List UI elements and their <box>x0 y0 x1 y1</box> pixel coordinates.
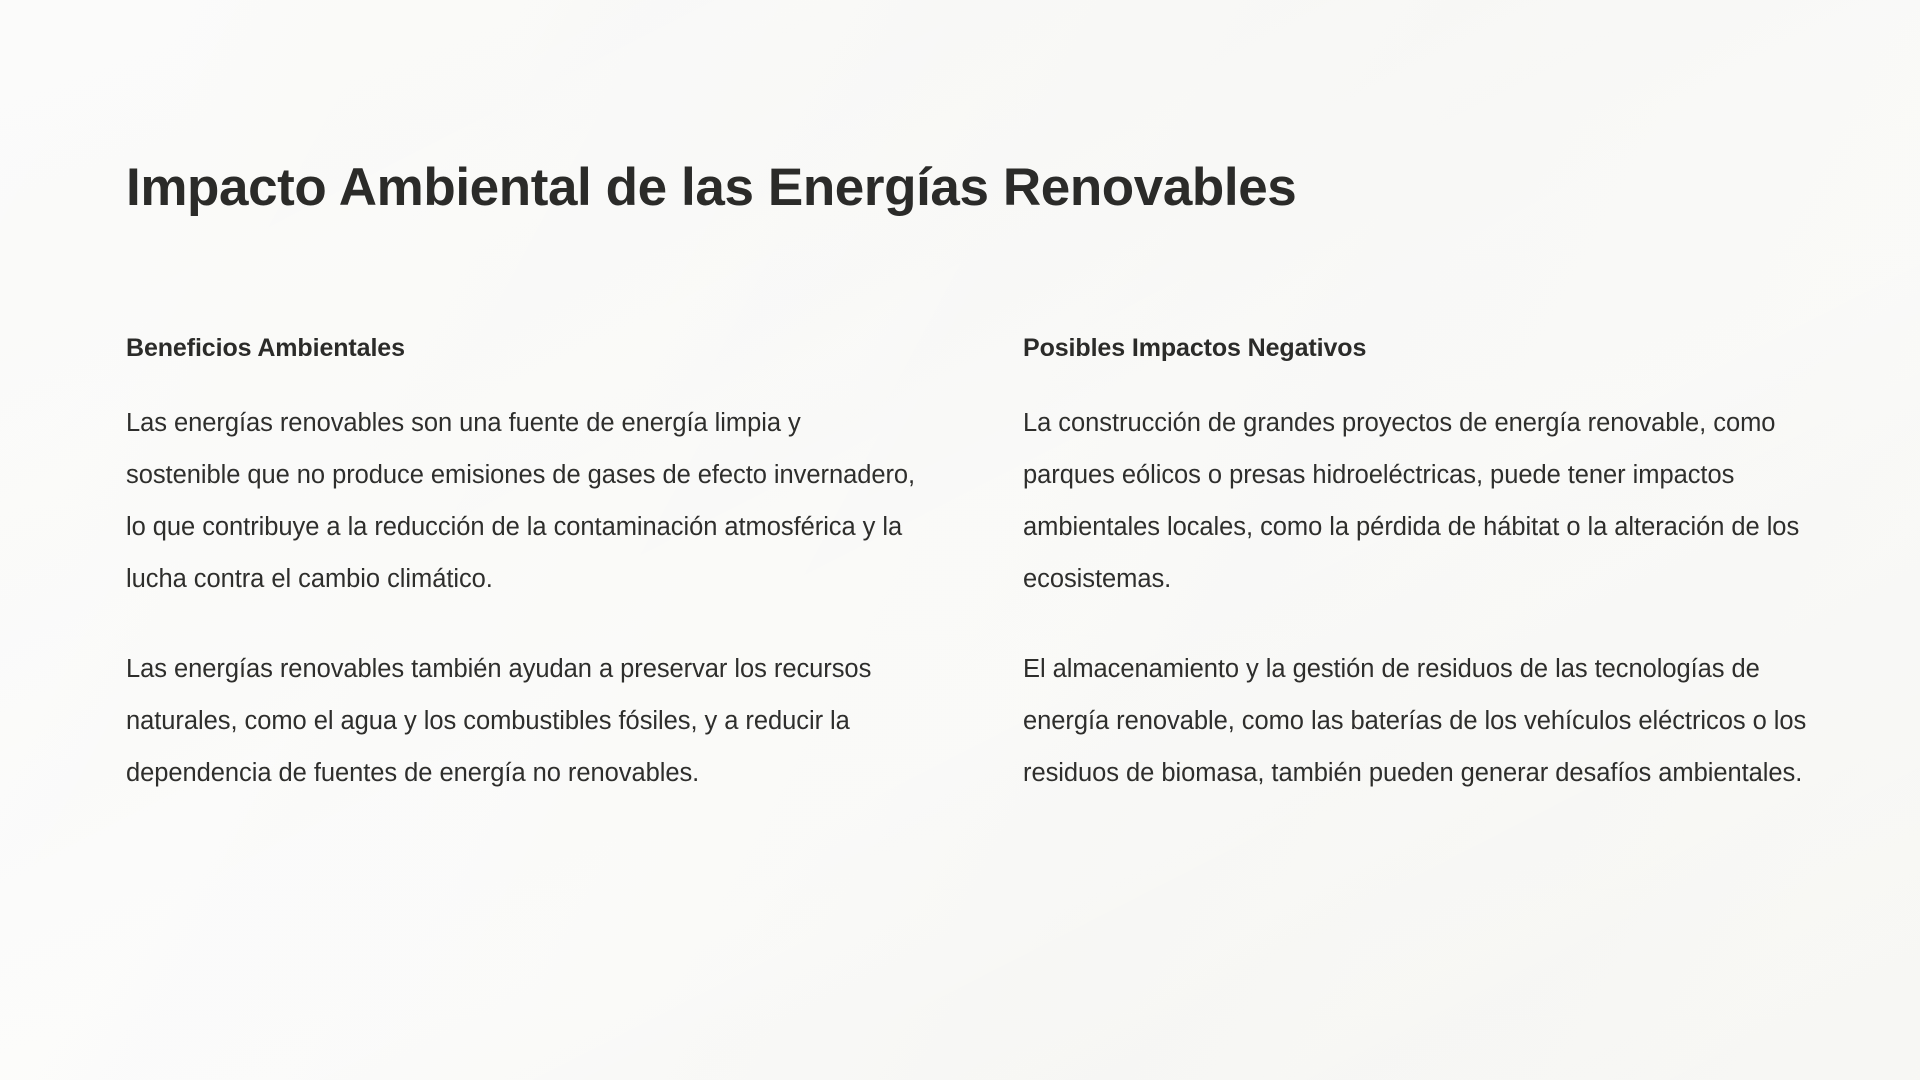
column-beneficios-ambientales: Beneficios Ambientales Las energías reno… <box>126 333 918 799</box>
page-title: Impacto Ambiental de las Energías Renova… <box>126 160 1826 216</box>
column-heading-left: Beneficios Ambientales <box>126 333 918 363</box>
column-heading-right: Posibles Impactos Negativos <box>1023 333 1815 363</box>
paragraph: Las energías renovables también ayudan a… <box>126 643 918 799</box>
paragraph: La construcción de grandes proyectos de … <box>1023 397 1815 605</box>
two-column-body: Beneficios Ambientales Las energías reno… <box>126 333 1816 799</box>
column-posibles-impactos-negativos: Posibles Impactos Negativos La construcc… <box>1023 333 1815 799</box>
slide-canvas: Impacto Ambiental de las Energías Renova… <box>0 0 1920 1080</box>
paragraph: El almacenamiento y la gestión de residu… <box>1023 643 1815 799</box>
paragraph: Las energías renovables son una fuente d… <box>126 397 918 605</box>
